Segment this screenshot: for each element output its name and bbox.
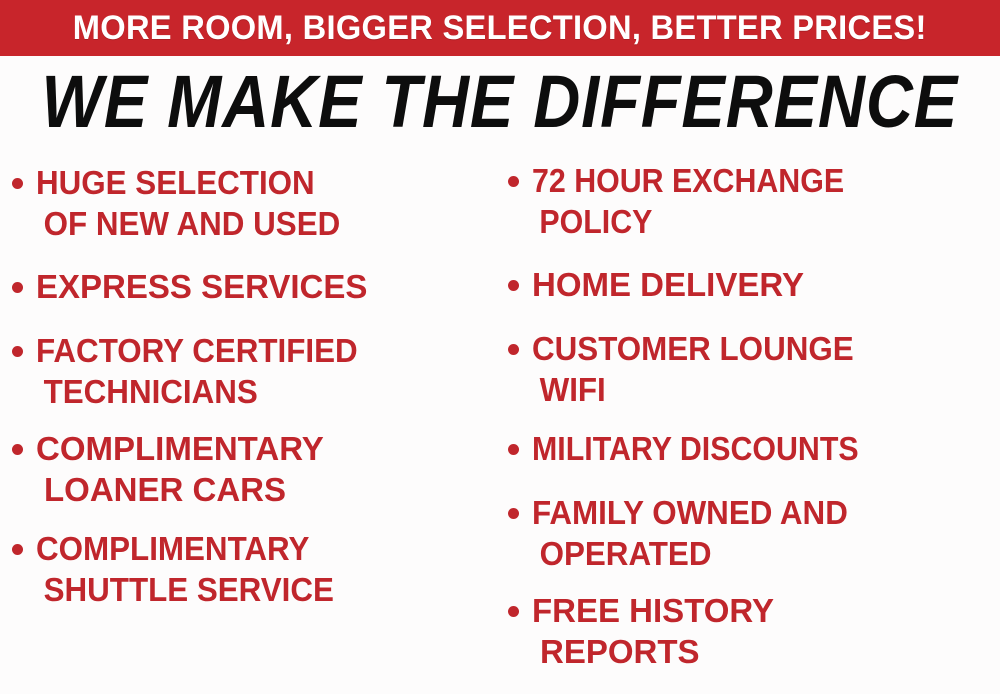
- list-item: FAMILY OWNED AND OPERATED: [508, 492, 864, 574]
- bullet-dot-icon: [12, 282, 23, 293]
- list-item-text: FREE HISTORY REPORTS: [532, 590, 774, 672]
- list-item: HOME DELIVERY: [508, 264, 804, 305]
- list-item: MILITARY DISCOUNTS: [508, 428, 887, 469]
- top-banner: MORE ROOM, BIGGER SELECTION, BETTER PRIC…: [0, 0, 1000, 56]
- list-item-line: SHUTTLE SERVICE: [44, 569, 334, 610]
- list-item-line: TECHNICIANS: [44, 371, 358, 412]
- list-item: 72 HOUR EXCHANGE POLICY: [508, 160, 871, 242]
- list-item: HUGE SELECTION OF NEW AND USED: [12, 162, 356, 244]
- list-item-line: OPERATED: [540, 533, 848, 574]
- list-item-line: HOME DELIVERY: [532, 264, 804, 305]
- list-item-text: CUSTOMER LOUNGE WIFI: [532, 328, 854, 410]
- list-item-text: MILITARY DISCOUNTS: [532, 428, 859, 469]
- bullet-dot-icon: [508, 606, 519, 617]
- list-item: FACTORY CERTIFIED TECHNICIANS: [12, 330, 375, 412]
- list-item-line: FAMILY OWNED AND: [532, 492, 848, 533]
- list-item-text: FAMILY OWNED AND OPERATED: [532, 492, 848, 574]
- main-headline-container: WE MAKE THE DIFFERENCE: [0, 58, 1000, 146]
- list-item-line: OF NEW AND USED: [44, 203, 341, 244]
- list-item: FREE HISTORY REPORTS: [508, 590, 774, 672]
- list-item: EXPRESS SERVICES: [12, 266, 367, 307]
- bullet-dot-icon: [508, 508, 519, 519]
- bullet-dot-icon: [12, 444, 23, 455]
- list-item-text: 72 HOUR EXCHANGE POLICY: [532, 160, 844, 242]
- list-item-line: MILITARY DISCOUNTS: [532, 428, 859, 469]
- list-item: COMPLIMENTARY SHUTTLE SERVICE: [12, 528, 350, 610]
- list-item-text: COMPLIMENTARY LOANER CARS: [36, 428, 324, 510]
- page-title: WE MAKE THE DIFFERENCE: [42, 65, 959, 139]
- list-item-line: FREE HISTORY: [532, 590, 774, 631]
- list-item-line: POLICY: [539, 201, 844, 242]
- list-item: CUSTOMER LOUNGE WIFI: [508, 328, 871, 410]
- bullet-dot-icon: [12, 544, 23, 555]
- banner-headline: MORE ROOM, BIGGER SELECTION, BETTER PRIC…: [73, 11, 927, 45]
- bullet-dot-icon: [12, 178, 23, 189]
- list-item-text: FACTORY CERTIFIED TECHNICIANS: [36, 330, 358, 412]
- list-item-line: HUGE SELECTION: [36, 162, 340, 203]
- benefits-columns: HUGE SELECTION OF NEW AND USED EXPRESS S…: [0, 152, 1000, 694]
- bullet-dot-icon: [12, 346, 23, 357]
- list-item-line: REPORTS: [540, 631, 774, 672]
- list-item-line: COMPLIMENTARY: [36, 528, 334, 569]
- list-item-text: COMPLIMENTARY SHUTTLE SERVICE: [36, 528, 334, 610]
- benefits-column-left: HUGE SELECTION OF NEW AND USED EXPRESS S…: [12, 152, 492, 694]
- list-item-line: 72 HOUR EXCHANGE: [532, 160, 844, 201]
- list-item-line: EXPRESS SERVICES: [36, 266, 367, 307]
- list-item-text: EXPRESS SERVICES: [36, 266, 367, 307]
- list-item-line: LOANER CARS: [44, 469, 324, 510]
- list-item-line: CUSTOMER LOUNGE: [532, 328, 854, 369]
- list-item-text: HOME DELIVERY: [532, 264, 804, 305]
- bullet-dot-icon: [508, 344, 519, 355]
- list-item-text: HUGE SELECTION OF NEW AND USED: [36, 162, 340, 244]
- bullet-dot-icon: [508, 176, 519, 187]
- benefits-column-right: 72 HOUR EXCHANGE POLICY HOME DELIVERY CU…: [508, 152, 1000, 694]
- list-item-line: FACTORY CERTIFIED: [36, 330, 358, 371]
- list-item-line: COMPLIMENTARY: [36, 428, 324, 469]
- list-item: COMPLIMENTARY LOANER CARS: [12, 428, 324, 510]
- bullet-dot-icon: [508, 444, 519, 455]
- bullet-dot-icon: [508, 280, 519, 291]
- list-item-line: WIFI: [540, 369, 854, 410]
